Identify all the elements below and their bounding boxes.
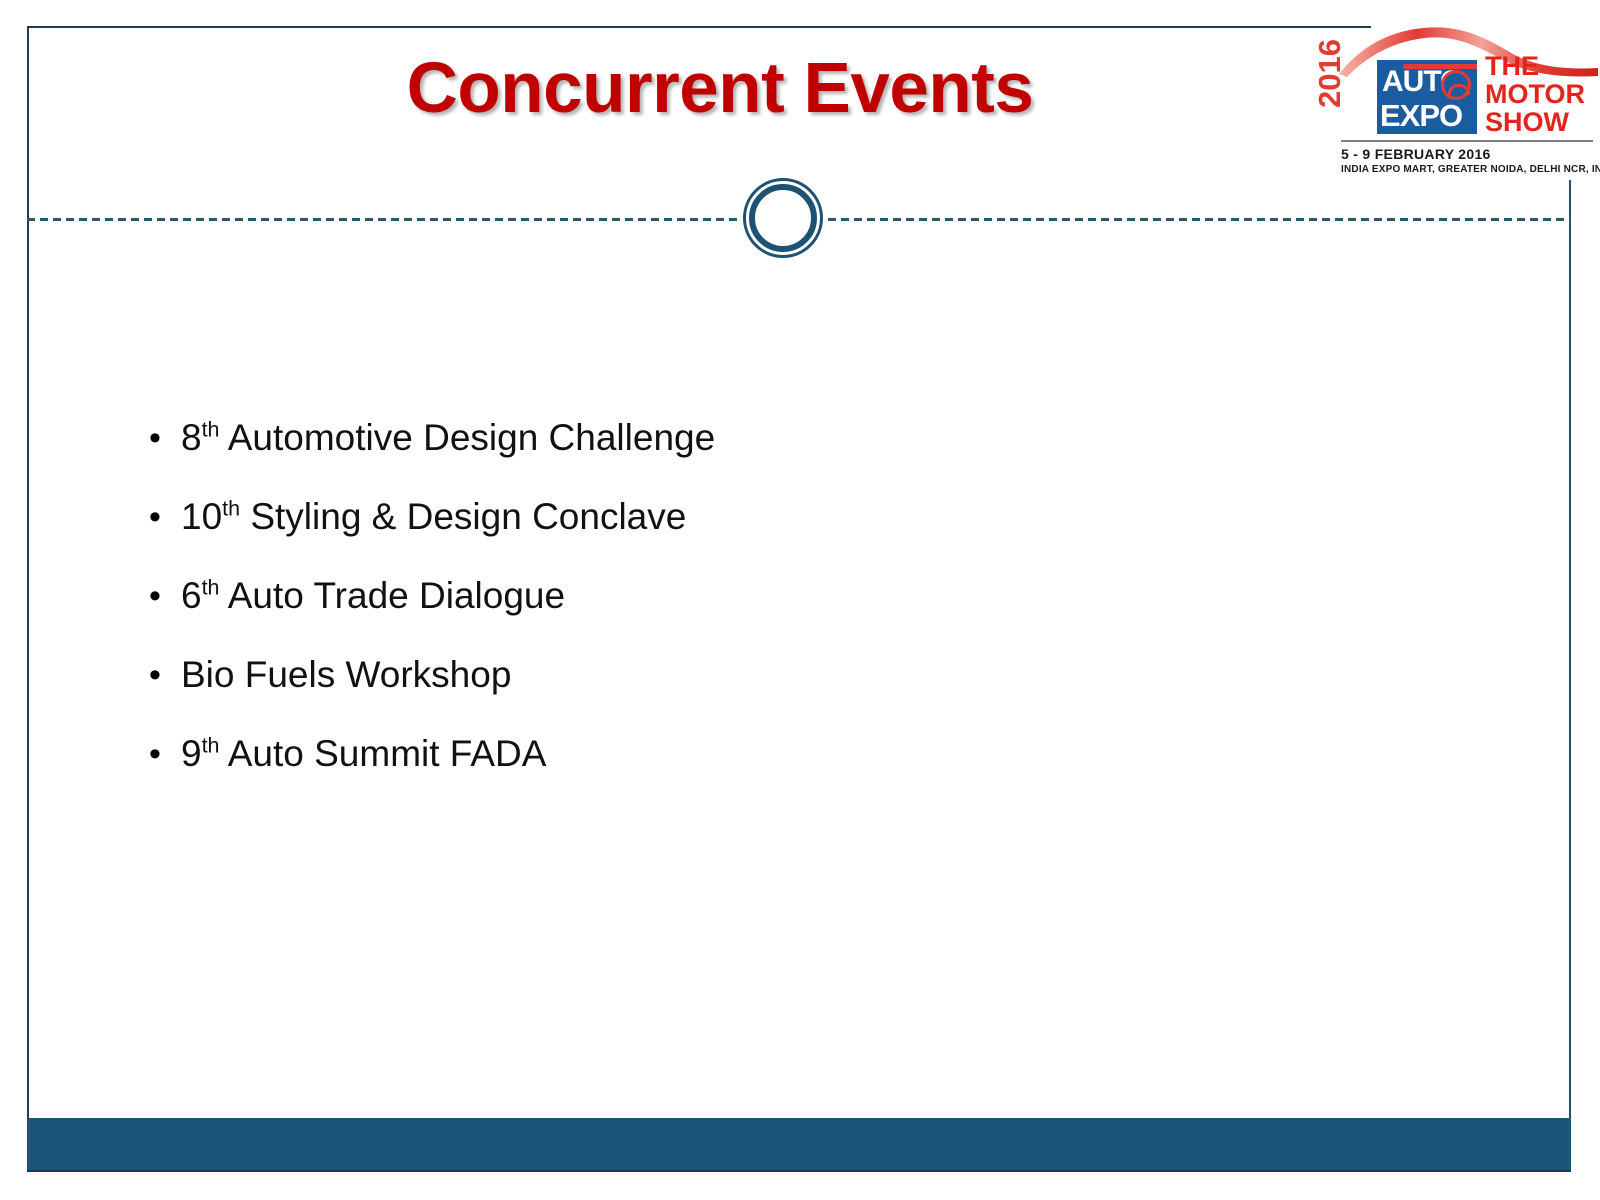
list-item: • 9th Auto Summit FADA	[140, 731, 1240, 810]
auto-expo-logo: 2016 AUTO EXPO THE MOTOR SHOW 5 - 9 FEBR…	[1337, 14, 1600, 184]
logo-tagline: THE MOTOR SHOW	[1485, 52, 1600, 136]
divider-dashed-right	[828, 218, 1570, 221]
list-item-label: 6th Auto Trade Dialogue	[181, 573, 565, 619]
logo-divider	[1341, 140, 1593, 142]
footer-band	[27, 1118, 1571, 1172]
bullet-marker-icon: •	[140, 494, 181, 540]
ring-ornament-inner-icon	[749, 184, 817, 252]
logo-dates: 5 - 9 FEBRUARY 2016	[1341, 146, 1491, 162]
steering-wheel-icon	[1441, 70, 1471, 100]
list-item: • Bio Fuels Workshop	[140, 652, 1240, 731]
bullet-marker-icon: •	[140, 573, 181, 619]
frame-left-border	[27, 26, 29, 1120]
list-item-label: 9th Auto Summit FADA	[181, 731, 546, 777]
divider-dashed-left	[27, 218, 740, 221]
page-title: Concurrent Events	[120, 48, 1320, 129]
list-item: • 8th Automotive Design Challenge	[140, 415, 1240, 494]
frame-top-border	[27, 26, 1371, 28]
list-item-label: 10th Styling & Design Conclave	[181, 494, 686, 540]
bullet-list: • 8th Automotive Design Challenge • 10th…	[140, 415, 1240, 810]
logo-badge: AUTO EXPO	[1375, 58, 1479, 136]
logo-brand-line2: EXPO	[1380, 100, 1462, 131]
frame-right-border	[1569, 180, 1571, 1120]
logo-venue: INDIA EXPO MART, GREATER NOIDA, DELHI NC…	[1341, 164, 1600, 175]
bullet-marker-icon: •	[140, 652, 181, 698]
bullet-marker-icon: •	[140, 415, 181, 461]
list-item: • 6th Auto Trade Dialogue	[140, 573, 1240, 652]
list-item-label: 8th Automotive Design Challenge	[181, 415, 715, 461]
list-item: • 10th Styling & Design Conclave	[140, 494, 1240, 573]
slide-canvas: Concurrent Events • 8th Automotive Desig…	[0, 0, 1600, 1200]
bullet-marker-icon: •	[140, 731, 181, 777]
list-item-label: Bio Fuels Workshop	[181, 652, 511, 698]
